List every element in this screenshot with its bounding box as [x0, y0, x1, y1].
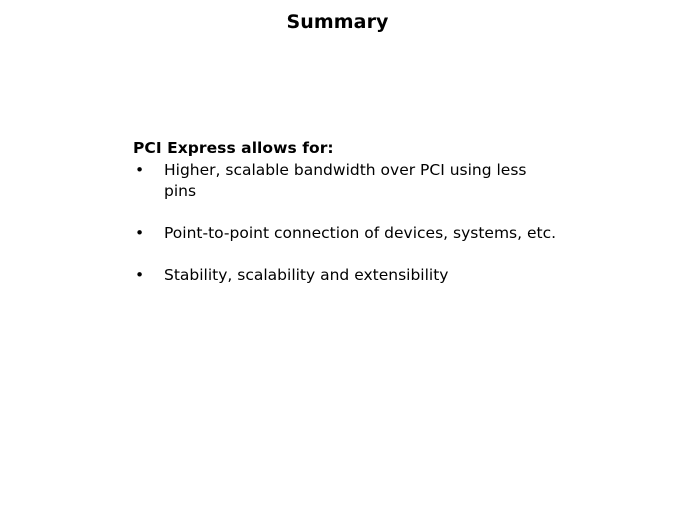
list-item: • Higher, scalable bandwidth over PCI us… [133, 160, 563, 202]
list-item: • Stability, scalability and extensibili… [133, 265, 563, 286]
body-heading: PCI Express allows for: [133, 138, 563, 158]
list-item: • Point-to-point connection of devices, … [133, 223, 563, 244]
bullet-list: • Higher, scalable bandwidth over PCI us… [133, 160, 563, 286]
bullet-point-icon: • [135, 223, 145, 244]
page-title: Summary [0, 10, 675, 34]
list-item-label: Higher, scalable bandwidth over PCI usin… [164, 160, 563, 202]
list-item-label: Point-to-point connection of devices, sy… [164, 223, 563, 244]
slide-canvas: Summary PCI Express allows for: • Higher… [0, 0, 675, 506]
bullet-point-icon: • [135, 265, 145, 286]
bullet-point-icon: • [135, 160, 145, 181]
slide-body: PCI Express allows for: • Higher, scalab… [133, 138, 563, 286]
list-item-label: Stability, scalability and extensibility [164, 265, 563, 286]
